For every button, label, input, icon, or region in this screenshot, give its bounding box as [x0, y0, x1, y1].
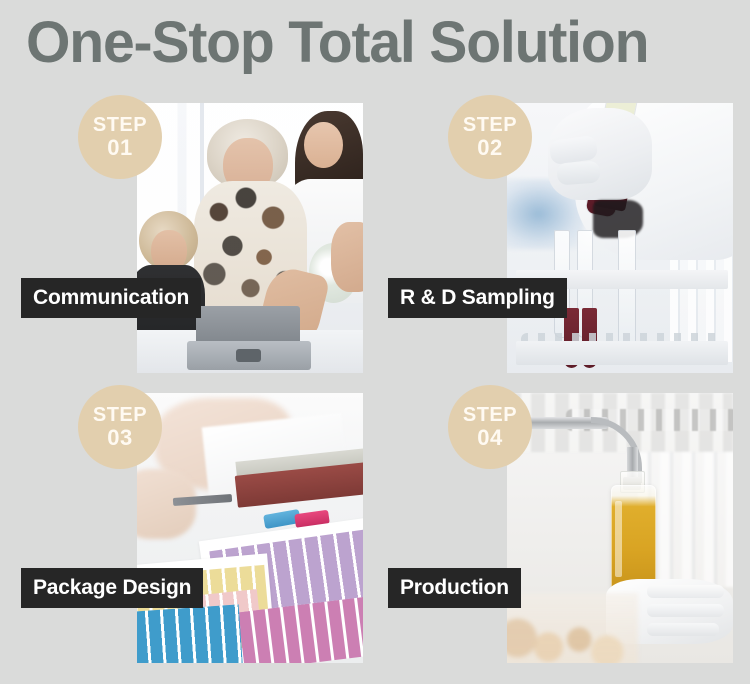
step-label-rd-sampling: R & D Sampling [388, 278, 567, 318]
step-photo-package-design [137, 393, 363, 663]
page-title: One-Stop Total Solution [26, 9, 739, 77]
step-label-text: R & D Sampling [400, 286, 555, 310]
step-badge-03: STEP 03 [78, 385, 162, 469]
step-badge-word: STEP [93, 405, 147, 426]
step-badge-02: STEP 02 [448, 95, 532, 179]
one-stop-total-solution-infographic: One-Stop Total Solution [0, 0, 750, 684]
step-badge-01: STEP 01 [78, 95, 162, 179]
step-photo-rd-sampling [507, 103, 733, 373]
step-badge-number: 01 [107, 136, 132, 160]
step-label-text: Package Design [33, 576, 191, 600]
photo-artwork-package-design [137, 393, 363, 663]
step-photo-production [507, 393, 733, 663]
step-badge-04: STEP 04 [448, 385, 532, 469]
step-label-communication: Communication [21, 278, 201, 318]
step-label-text: Communication [33, 286, 189, 310]
step-badge-number: 02 [477, 136, 502, 160]
step-badge-word: STEP [463, 405, 517, 426]
photo-artwork-communication [137, 103, 363, 373]
step-label-package-design: Package Design [21, 568, 203, 608]
step-badge-word: STEP [463, 115, 517, 136]
step-label-production: Production [388, 568, 521, 608]
step-photo-communication [137, 103, 363, 373]
photo-artwork-rd-sampling [507, 103, 733, 373]
step-badge-word: STEP [93, 115, 147, 136]
step-label-text: Production [400, 576, 509, 600]
step-badge-number: 04 [477, 426, 502, 450]
photo-artwork-production [507, 393, 733, 663]
step-badge-number: 03 [107, 426, 132, 450]
